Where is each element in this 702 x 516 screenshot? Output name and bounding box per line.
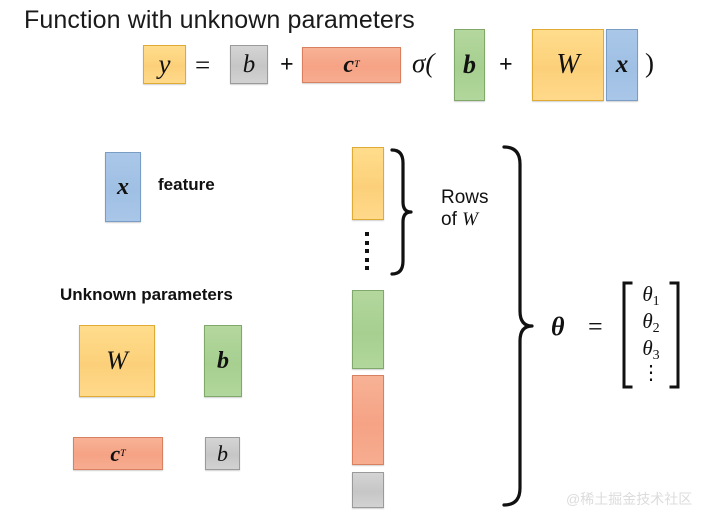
slide-title: Function with unknown parameters xyxy=(24,6,415,35)
equation-label-c: c xyxy=(343,52,354,79)
equation-label-b-scalar: b xyxy=(243,51,256,79)
unknown-block-b-scalar-label: b xyxy=(217,441,228,467)
equation-label-W: W xyxy=(556,49,579,81)
rows-of-W-label: Rows of W xyxy=(441,187,489,232)
equals-glyph: = xyxy=(195,50,210,80)
unknown-block-c-transpose: cT xyxy=(73,437,163,470)
feature-block-x: x xyxy=(105,152,141,222)
feature-caption: feature xyxy=(158,175,215,195)
theta-equals-glyph: = xyxy=(588,312,603,341)
theta-vector-entries: θ1 θ2 θ3 ⋮ xyxy=(632,281,670,389)
theta-vector-entry: θ3 xyxy=(642,335,659,362)
theta-entry-ellipsis-icon: ⋮ xyxy=(641,362,661,384)
rows-of-W-brace-icon xyxy=(389,147,413,277)
theta-vector: θ1 θ2 θ3 ⋮ xyxy=(620,281,682,389)
theta-vector-entry: θ2 xyxy=(642,308,659,335)
sigma-glyph: σ( xyxy=(412,48,434,78)
rows-of-W-label-symbol: W xyxy=(462,209,478,230)
unknown-block-b-vector: b xyxy=(204,325,242,397)
theta-equals: = xyxy=(588,312,603,342)
rows-of-W-label-of: of xyxy=(441,209,462,230)
unknown-block-b-vector-label: b xyxy=(217,348,229,375)
plus-glyph-2: + xyxy=(499,52,513,78)
equation-operator-plus-1: + xyxy=(280,52,294,79)
equation-label-b-vector: b xyxy=(463,50,476,80)
watermark-text: @稀土掘金技术社区 xyxy=(566,491,692,507)
rows-of-W-label-line2: of W xyxy=(441,209,489,231)
stack-block-b-scalar xyxy=(352,472,384,508)
equation-sigma-open-paren: σ( xyxy=(412,48,434,79)
theta-grouping-brace-icon xyxy=(500,144,534,508)
equation-block-b-scalar: b xyxy=(230,45,268,84)
theta-entry-sub: 3 xyxy=(653,348,660,363)
equation-label-y: y xyxy=(159,49,171,80)
equation-block-c-transpose: cT xyxy=(302,47,401,83)
theta-entry-sub: 1 xyxy=(653,294,660,309)
equation-operator-equals: = xyxy=(195,50,210,81)
slide-canvas: Function with unknown parameters y = b +… xyxy=(0,0,702,516)
theta-vector-right-bracket-icon xyxy=(668,281,682,389)
equation-block-W: W xyxy=(532,29,604,101)
feature-block-label: x xyxy=(117,174,129,201)
theta-entry-base: θ xyxy=(642,282,652,306)
theta-symbol-glyph: θ xyxy=(551,312,565,341)
rows-of-W-label-line1: Rows xyxy=(441,187,489,209)
stack-block-c-transpose xyxy=(352,375,384,465)
theta-entry-base: θ xyxy=(642,336,652,360)
unknown-block-b-scalar: b xyxy=(205,437,240,470)
feature-caption-text: feature xyxy=(158,175,215,194)
unknown-parameters-heading-text: Unknown parameters xyxy=(60,285,233,304)
theta-entry-sub: 2 xyxy=(653,321,660,336)
unknown-block-c-label: c xyxy=(110,441,120,467)
equation-operator-plus-2: + xyxy=(499,52,513,79)
stack-block-b-vector xyxy=(352,290,384,369)
equation-block-x: x xyxy=(606,29,638,101)
watermark: @稀土掘金技术社区 xyxy=(566,489,692,509)
stack-ellipsis-icon xyxy=(364,232,370,270)
unknown-block-W-label: W xyxy=(106,346,128,376)
equation-block-y: y xyxy=(143,45,186,84)
theta-entry-base: θ xyxy=(642,309,652,333)
theta-vector-entry: θ1 xyxy=(642,281,659,308)
theta-symbol: θ xyxy=(551,312,565,342)
unknown-parameters-heading: Unknown parameters xyxy=(60,285,233,305)
equation-label-x: x xyxy=(616,51,629,79)
theta-vector-entry: ⋮ xyxy=(641,362,661,389)
stack-block-row-of-W xyxy=(352,147,384,220)
unknown-block-W: W xyxy=(79,325,155,397)
close-paren-glyph: ) xyxy=(645,48,654,78)
plus-glyph-1: + xyxy=(280,52,294,78)
equation-close-paren: ) xyxy=(645,48,654,79)
equation-block-b-vector: b xyxy=(454,29,485,101)
